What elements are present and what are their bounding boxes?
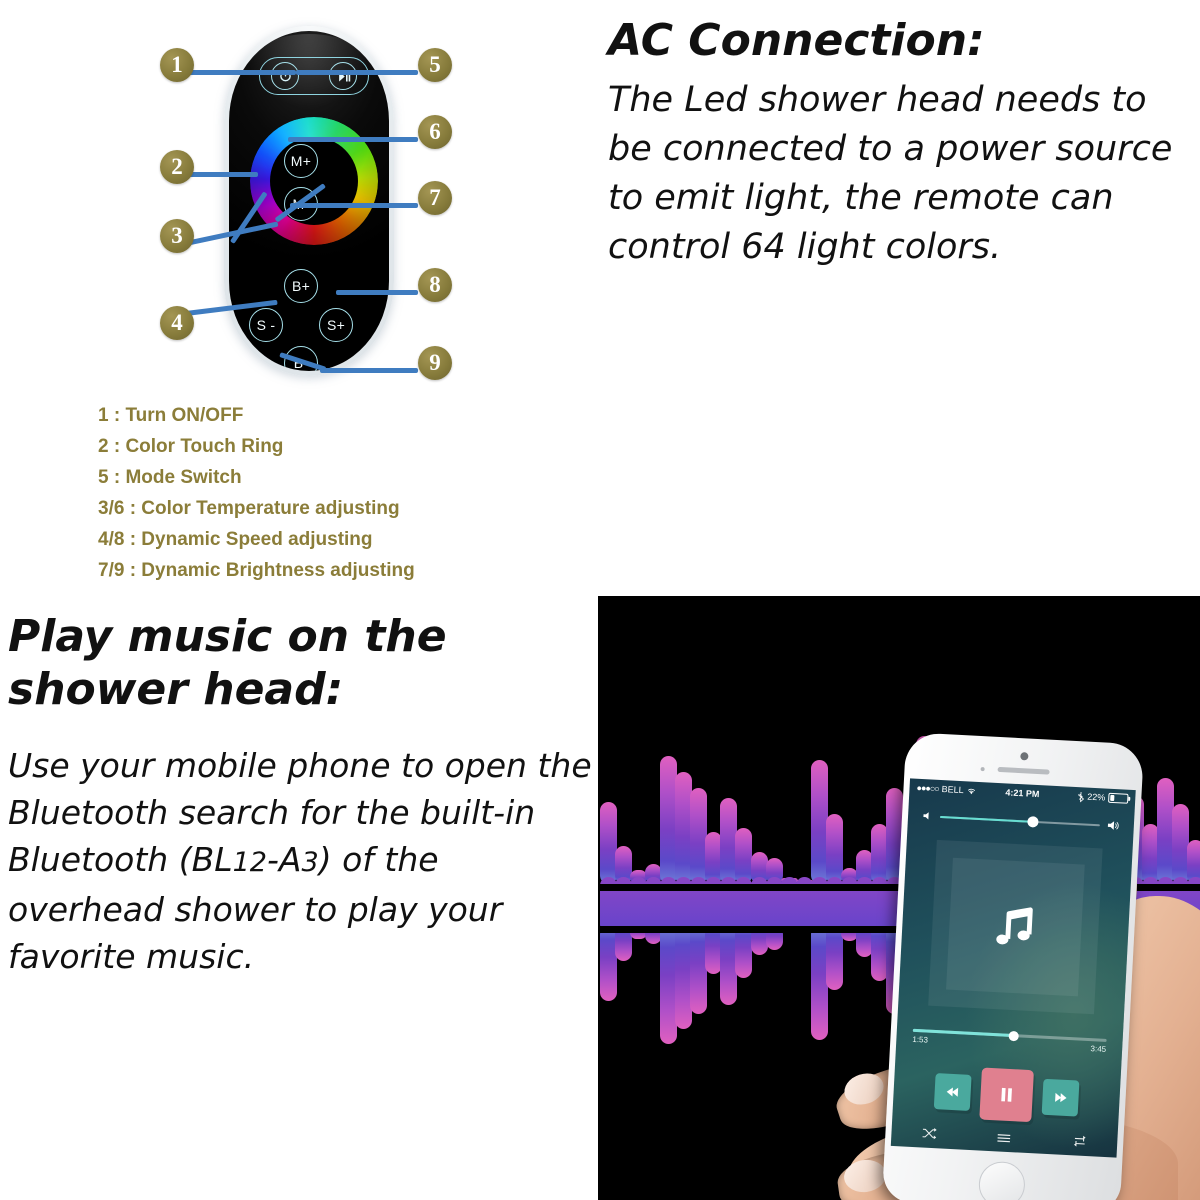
legend-item-3: 5 : Mode Switch [98, 462, 568, 493]
signal-dots-icon: ●●●○○ [916, 783, 939, 794]
repeat-button[interactable] [1072, 1132, 1088, 1152]
legend-item-5: 4/8 : Dynamic Speed adjusting [98, 524, 568, 555]
status-left: ●●●○○ BELL [916, 783, 977, 796]
shuffle-icon [921, 1126, 937, 1140]
equalizer-bar-mirror [735, 926, 752, 978]
remote-diagram-panel: M+ M- B+ S - S+ B- 1 2 [0, 0, 598, 596]
volume-fill [940, 815, 1033, 822]
callout-badge-8: 8 [418, 268, 452, 302]
callout-badge-4: 4 [160, 306, 194, 340]
callout-badge-5: 5 [418, 48, 452, 82]
legend-item-4: 3/6 : Color Temperature adjusting [98, 493, 568, 524]
playback-progress[interactable]: 1:53 3:45 [912, 1029, 1107, 1054]
callout-badge-1: 1 [160, 48, 194, 82]
mode-up-label: M+ [291, 153, 311, 169]
remote-face: M+ M- B+ S - S+ B- [229, 31, 389, 371]
leader-line-6 [288, 137, 418, 142]
album-art [928, 840, 1102, 1014]
mode-up-button[interactable]: M+ [284, 144, 318, 178]
remote-device: M+ M- B+ S - S+ B- [224, 26, 394, 376]
callout-badge-9: 9 [418, 346, 452, 380]
fast-forward-icon [1051, 1088, 1070, 1107]
wifi-icon [966, 786, 976, 796]
volume-knob[interactable] [1027, 816, 1039, 828]
volume-slider[interactable] [922, 809, 1120, 832]
repeat-icon [1072, 1134, 1088, 1148]
power-button[interactable] [271, 62, 299, 90]
pause-button[interactable] [979, 1068, 1034, 1123]
total-time-label: 3:45 [1090, 1044, 1106, 1054]
leader-line-7 [290, 203, 418, 208]
brightness-up-button[interactable]: B+ [284, 269, 318, 303]
speed-up-label: S+ [327, 317, 345, 333]
earpiece-speaker [998, 767, 1050, 775]
shuffle-button[interactable] [921, 1124, 937, 1144]
proximity-sensor-icon [981, 767, 985, 771]
carrier-label: BELL [941, 784, 964, 795]
infographic-page: M+ M- B+ S - S+ B- 1 2 [0, 0, 1200, 1200]
bluetooth-icon [1077, 791, 1085, 802]
elapsed-time-label: 1:53 [912, 1035, 928, 1045]
play-music-section: Play music on the shower head: Use your … [8, 610, 598, 1190]
speed-down-label: S - [257, 317, 276, 333]
ac-connection-section: AC Connection: The Led shower head needs… [608, 14, 1198, 394]
home-button[interactable] [978, 1161, 1026, 1200]
play-music-model-num1: 12 [233, 847, 267, 878]
status-bar: ●●●○○ BELL 4:21 PM 22% [909, 778, 1136, 808]
legend-list: 1 : Turn ON/OFF 2 : Color Touch Ring 5 :… [98, 400, 568, 586]
progress-knob[interactable] [1008, 1030, 1019, 1041]
play-music-body-part2: -A [267, 840, 301, 879]
volume-low-icon [922, 810, 934, 822]
music-note-icon [986, 898, 1045, 957]
rewind-icon [943, 1083, 962, 1102]
transport-controls [892, 1063, 1120, 1127]
speed-up-button[interactable]: S+ [319, 308, 353, 342]
secondary-controls [891, 1123, 1118, 1154]
next-button[interactable] [1042, 1079, 1080, 1117]
clock-label: 4:21 PM [1005, 787, 1039, 799]
phone-screen: ●●●○○ BELL 4:21 PM 22% [891, 778, 1136, 1157]
speed-down-button[interactable]: S - [249, 308, 283, 342]
legend-item-6: 7/9 : Dynamic Brightness adjusting [98, 555, 568, 586]
callout-badge-3: 3 [160, 219, 194, 253]
brightness-up-label: B+ [292, 278, 310, 294]
equalizer-bar [735, 828, 752, 884]
callout-badge-6: 6 [418, 115, 452, 149]
pause-icon [996, 1083, 1017, 1106]
ac-connection-body: The Led shower head needs to be connecte… [608, 76, 1198, 272]
callout-badge-2: 2 [160, 150, 194, 184]
leader-line-8 [336, 290, 418, 295]
leader-line-9 [320, 368, 418, 373]
smartphone: ●●●○○ BELL 4:21 PM 22% [882, 732, 1144, 1200]
leader-line-5 [296, 70, 418, 75]
callout-badge-7: 7 [418, 181, 452, 215]
ac-connection-title: AC Connection: [608, 14, 1198, 68]
legend-item-2: 2 : Color Touch Ring [98, 431, 568, 462]
leader-line-2 [186, 172, 258, 177]
album-art-inner [946, 858, 1085, 997]
playlist-icon [997, 1132, 1013, 1144]
legend-item-1: 1 : Turn ON/OFF [98, 400, 568, 431]
status-right: 22% [1077, 791, 1129, 805]
playlist-button[interactable] [996, 1128, 1012, 1148]
music-photo-panel: ●●●○○ BELL 4:21 PM 22% [598, 596, 1200, 1200]
volume-high-icon [1107, 819, 1121, 833]
front-camera-icon [1020, 752, 1028, 760]
previous-button[interactable] [934, 1073, 972, 1111]
play-music-model-num2: 3 [302, 847, 319, 878]
play-pause-button[interactable] [329, 62, 357, 90]
play-music-title: Play music on the shower head: [8, 610, 598, 716]
leader-line-1 [186, 70, 296, 75]
battery-percent-label: 22% [1087, 792, 1106, 803]
volume-track[interactable] [940, 815, 1100, 825]
battery-icon [1108, 793, 1128, 804]
play-music-body: Use your mobile phone to open the Blueto… [8, 742, 598, 980]
